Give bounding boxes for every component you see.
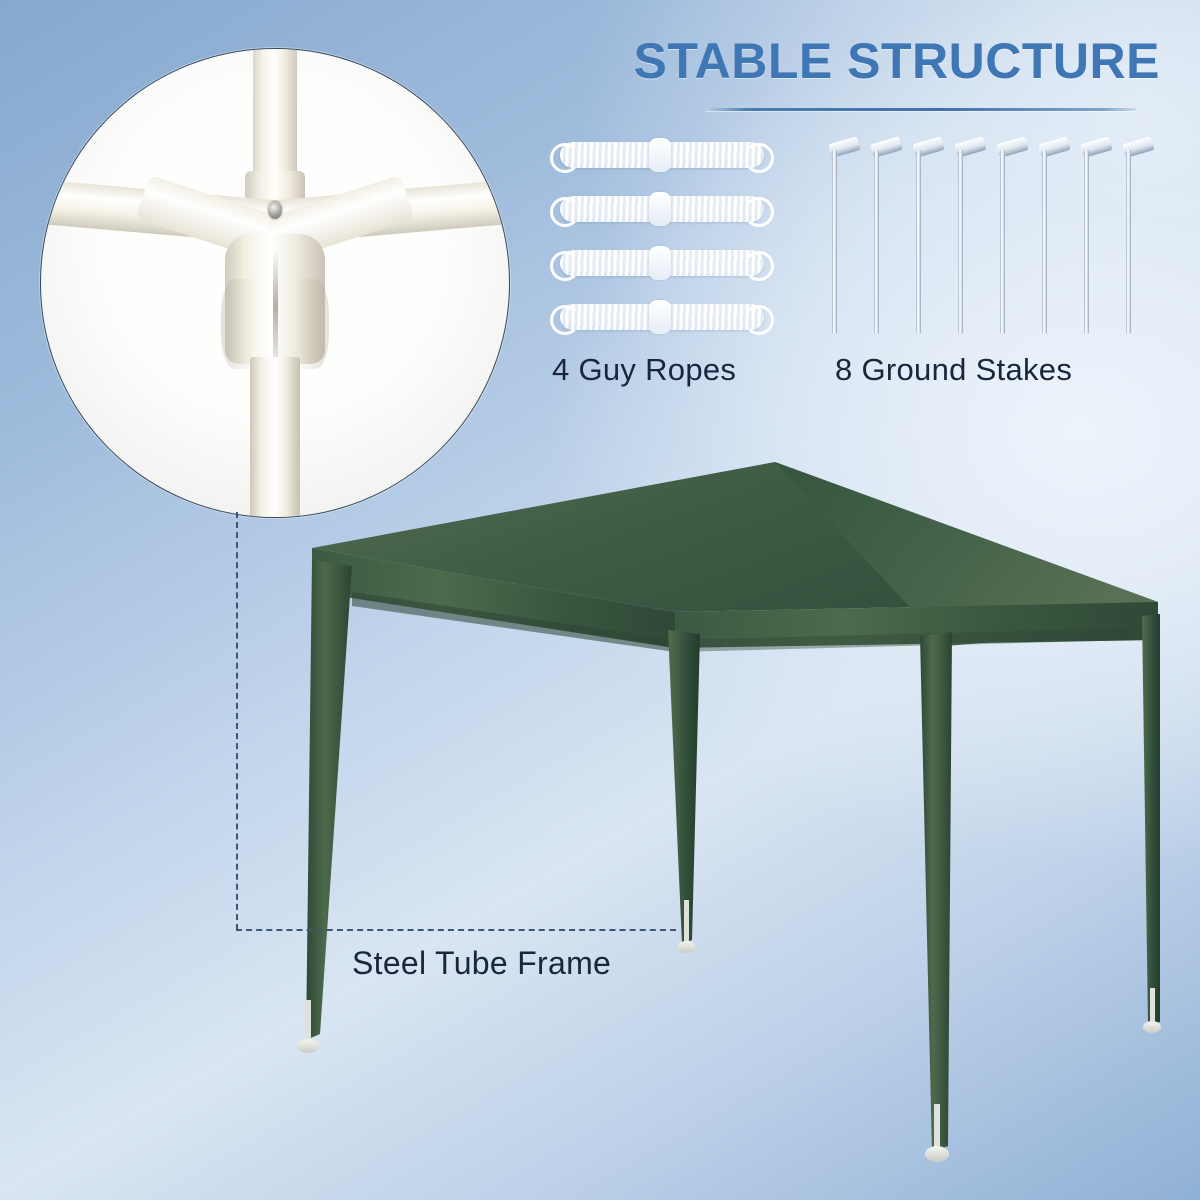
canopy-eave-left bbox=[312, 548, 675, 648]
hub-shadow-left bbox=[221, 279, 255, 369]
leg-foot-center bbox=[677, 941, 695, 953]
canopy-eave-right bbox=[675, 602, 1158, 648]
stake-icon bbox=[1112, 138, 1156, 334]
stake-icon bbox=[944, 138, 988, 334]
stake-icon bbox=[1028, 138, 1072, 334]
tube-connector-illustration bbox=[41, 49, 509, 517]
rope-coil-icon bbox=[552, 138, 772, 172]
rope-coil-icon bbox=[552, 246, 772, 280]
leg-tube-rear-right bbox=[1150, 988, 1155, 1024]
leg-foot-rear-right bbox=[1143, 1021, 1161, 1033]
stake-icon bbox=[860, 138, 904, 334]
leg-foot-front-right bbox=[925, 1146, 949, 1162]
title-underline-rule bbox=[705, 108, 1137, 111]
callout-leader-vertical bbox=[236, 512, 238, 930]
leg-foot-front-left bbox=[297, 1039, 319, 1053]
rope-coil-icon bbox=[552, 192, 772, 226]
gazebo-leg-front-right bbox=[920, 632, 952, 1152]
canopy-inner-bar bbox=[352, 592, 675, 652]
stake-icon bbox=[986, 138, 1030, 334]
steel-tube-joint-closeup bbox=[40, 48, 510, 518]
rope-coil-icon bbox=[552, 300, 772, 334]
screw-icon bbox=[268, 201, 282, 219]
canopy-inner-bar bbox=[675, 628, 1135, 652]
gazebo-leg-center bbox=[668, 630, 700, 944]
connector-seam bbox=[273, 249, 278, 364]
leg-tube-front-right bbox=[934, 1104, 940, 1148]
stake-icon bbox=[902, 138, 946, 334]
leg-tube-center bbox=[684, 900, 689, 942]
ground-stakes-label: 8 Ground Stakes bbox=[835, 352, 1072, 388]
page-title: STABLE STRUCTURE bbox=[520, 32, 1160, 90]
callout-leader-horizontal bbox=[236, 929, 676, 931]
gazebo-leg-front-left bbox=[306, 560, 352, 1040]
stake-icon bbox=[818, 138, 862, 334]
hub-shadow-right bbox=[295, 279, 329, 369]
canopy-roof-right bbox=[775, 462, 1158, 646]
gazebo-leg-rear-right bbox=[1142, 614, 1160, 1024]
stake-icon bbox=[1070, 138, 1114, 334]
steel-tube-frame-label: Steel Tube Frame bbox=[352, 945, 611, 982]
guy-ropes-group bbox=[552, 138, 782, 334]
lower-leg-tube bbox=[250, 357, 300, 518]
guy-ropes-label: 4 Guy Ropes bbox=[552, 352, 736, 388]
leg-tube-front-left bbox=[305, 1000, 311, 1042]
ground-stakes-group bbox=[818, 138, 1162, 334]
product-feature-image: STABLE STRUCTURE bbox=[0, 0, 1200, 1200]
